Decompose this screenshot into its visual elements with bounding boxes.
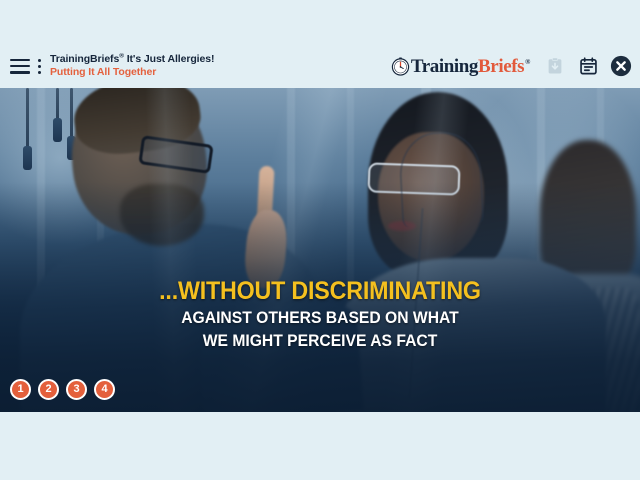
hamburger-line <box>10 71 30 74</box>
more-options-icon[interactable] <box>37 59 41 74</box>
close-glyph <box>610 55 632 77</box>
hamburger-menu-icon[interactable] <box>10 59 30 74</box>
kebab-dot <box>38 59 41 62</box>
hamburger-line <box>10 59 30 62</box>
download-icon <box>544 55 566 77</box>
chapter-button-4[interactable]: 4 <box>94 379 115 400</box>
player-header: TrainingBriefs® It's Just Allergies! Put… <box>0 44 640 88</box>
logo-text: TrainingBriefs® <box>411 57 530 76</box>
trainingbriefs-logo: TrainingBriefs® <box>391 57 530 76</box>
logo-registered-mark: ® <box>525 58 530 66</box>
bottom-plate <box>0 412 640 480</box>
kebab-dot <box>38 65 41 68</box>
kebab-dot <box>38 71 41 74</box>
hamburger-line <box>10 65 30 68</box>
logo-word-training: Training <box>411 56 478 77</box>
chapter-button-2[interactable]: 2 <box>38 379 59 400</box>
top-plate <box>0 0 640 44</box>
course-title-rest: It's Just Allergies! <box>124 53 214 65</box>
stopwatch-icon <box>391 57 410 76</box>
course-title-brand: TrainingBriefs <box>50 53 119 65</box>
course-subtitle: Putting It All Together <box>50 67 214 79</box>
header-right-group: TrainingBriefs® <box>391 55 632 77</box>
course-title-block: TrainingBriefs® It's Just Allergies! Put… <box>50 54 214 79</box>
chapter-navigation: 1 2 3 4 <box>10 379 115 400</box>
chapter-button-1[interactable]: 1 <box>10 379 31 400</box>
header-left-group: TrainingBriefs® It's Just Allergies! Put… <box>10 54 214 79</box>
chapter-button-3[interactable]: 3 <box>66 379 87 400</box>
notes-glyph <box>579 57 598 76</box>
logo-word-briefs: Briefs <box>478 56 524 77</box>
close-icon[interactable] <box>610 55 632 77</box>
player-app: TrainingBriefs® It's Just Allergies! Put… <box>0 0 640 480</box>
course-title: TrainingBriefs® It's Just Allergies! <box>50 54 214 66</box>
video-stage[interactable]: ...WITHOUT DISCRIMINATING AGAINST OTHERS… <box>0 88 640 412</box>
notes-icon[interactable] <box>577 55 599 77</box>
download-glyph <box>546 57 564 75</box>
caption-scrim <box>0 182 640 412</box>
